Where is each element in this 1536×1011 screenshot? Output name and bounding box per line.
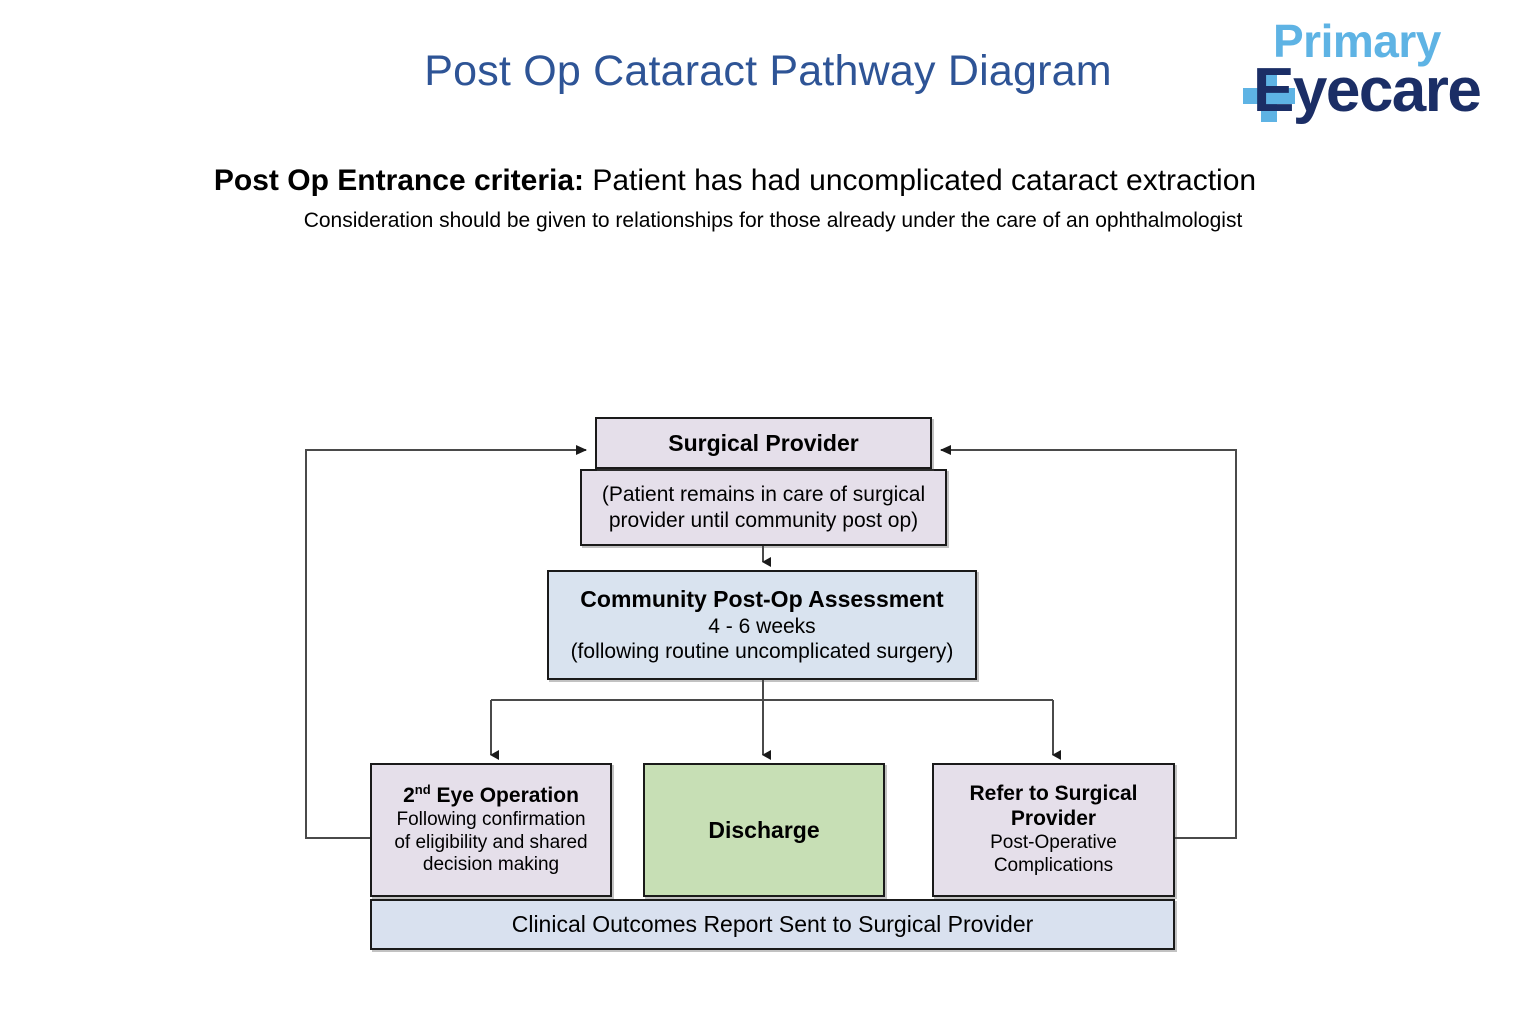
node-surgical-provider-title: Surgical Provider bbox=[668, 430, 858, 456]
node-community-title: Community Post-Op Assessment bbox=[580, 586, 943, 612]
node-second-eye-line1: Following confirmation bbox=[396, 809, 585, 832]
node-second-eye-operation[interactable]: 2nd Eye Operation Following confirmation… bbox=[370, 763, 612, 897]
node-second-eye-title: 2nd Eye Operation bbox=[403, 783, 579, 808]
node-surgical-provider-note-line1: (Patient remains in care of surgical bbox=[602, 482, 925, 507]
node-second-eye-title-ordinal: nd bbox=[415, 782, 431, 797]
node-surgical-provider-note-line2: provider until community post op) bbox=[609, 508, 918, 533]
node-second-eye-line3: decision making bbox=[423, 854, 559, 877]
node-surgical-provider[interactable]: Surgical Provider bbox=[595, 417, 932, 469]
node-refer-to-surgical-provider[interactable]: Refer to Surgical Provider Post-Operativ… bbox=[932, 763, 1175, 897]
node-clinical-outcomes-report-text: Clinical Outcomes Report Sent to Surgica… bbox=[512, 911, 1034, 939]
node-refer-line2: Complications bbox=[994, 855, 1113, 878]
node-community-line1: 4 - 6 weeks bbox=[708, 614, 815, 639]
node-community-post-op-assessment[interactable]: Community Post-Op Assessment 4 - 6 weeks… bbox=[547, 570, 977, 680]
node-refer-title-line2: Provider bbox=[1011, 807, 1096, 831]
node-discharge[interactable]: Discharge bbox=[643, 763, 885, 897]
node-discharge-title: Discharge bbox=[708, 817, 819, 843]
node-second-eye-line2: of eligibility and shared bbox=[394, 832, 587, 855]
pathway-flowchart: Surgical Provider (Patient remains in ca… bbox=[0, 0, 1536, 1011]
node-second-eye-title-rest: Eye Operation bbox=[431, 784, 579, 807]
node-refer-title-line1: Refer to Surgical bbox=[969, 782, 1137, 806]
node-refer-line1: Post-Operative bbox=[990, 832, 1117, 855]
node-surgical-provider-note[interactable]: (Patient remains in care of surgical pro… bbox=[580, 469, 947, 546]
node-second-eye-title-prefix: 2 bbox=[403, 784, 415, 807]
node-community-line2: (following routine uncomplicated surgery… bbox=[571, 639, 954, 664]
node-clinical-outcomes-report[interactable]: Clinical Outcomes Report Sent to Surgica… bbox=[370, 899, 1175, 950]
